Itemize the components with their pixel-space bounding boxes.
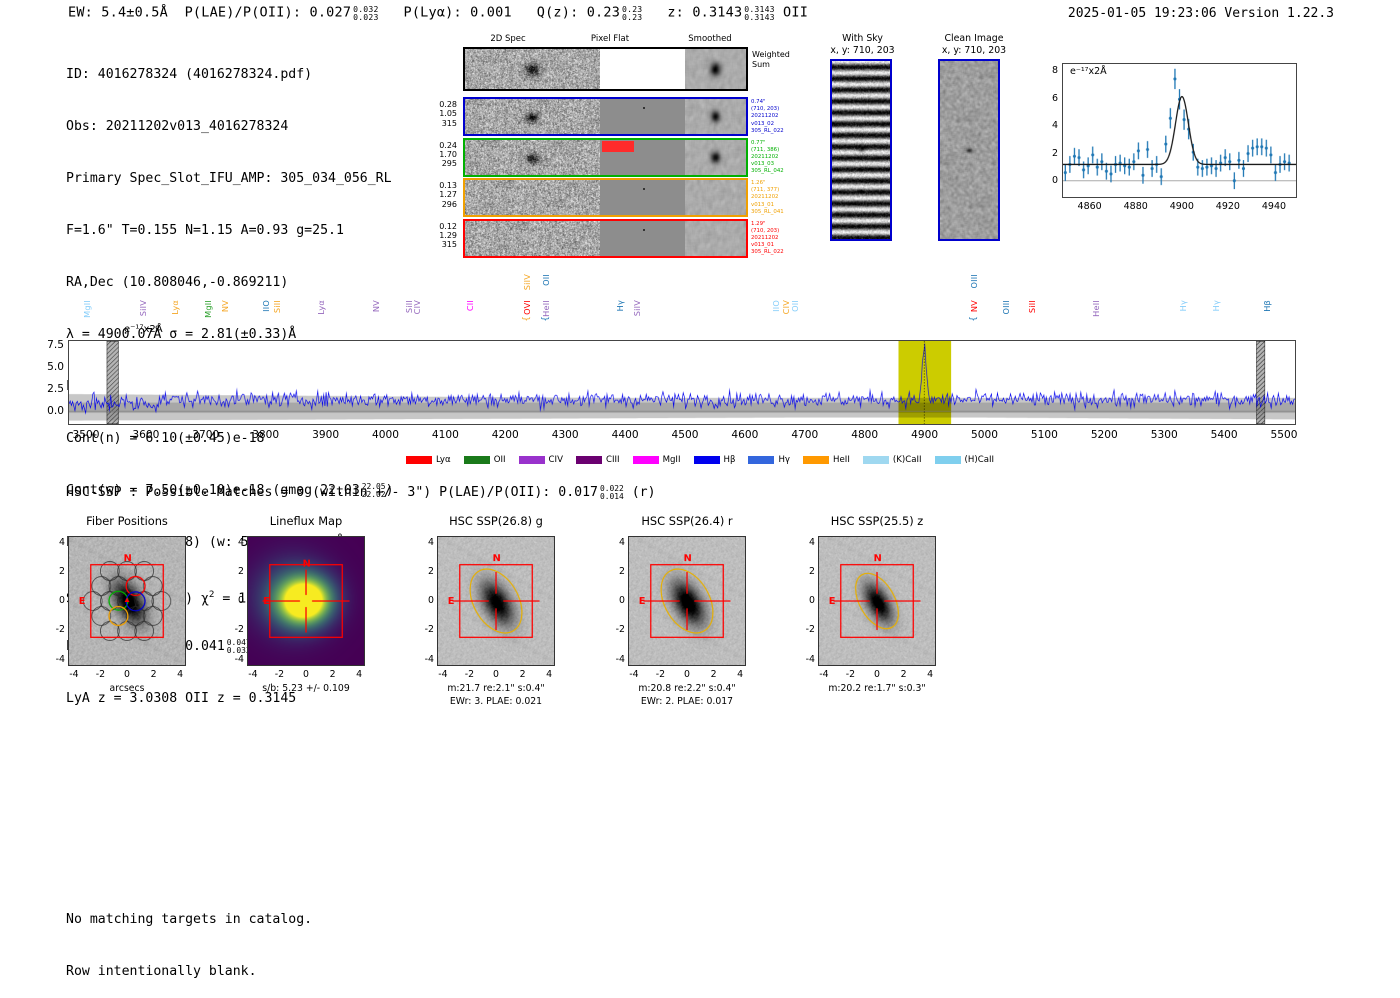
legend-item: (K)CaII bbox=[863, 455, 922, 465]
spectral-line-legend: LyαOIICIVCIIIMgIIHβHγHeII(K)CaII(H)CaII bbox=[0, 455, 1400, 465]
clean-image-title: Clean Image x, y: 710, 203 bbox=[925, 33, 1023, 56]
panel-hsc-ssp-g: HSC SSP(26.8) g-4-2024420-2-4m:21.7 re:2… bbox=[437, 536, 555, 726]
spectral-line-label: Hγ bbox=[1178, 300, 1188, 311]
fullspec-x-tick: 3900 bbox=[296, 429, 356, 441]
hsc-ssp-g-y-tick: -4 bbox=[419, 654, 434, 665]
exposure-row bbox=[463, 178, 748, 217]
lineflux-map-y-tick: -2 bbox=[229, 624, 244, 635]
full-spectrum-plot: MgII{SiIV{Lyα{MgII{NV{IIO{SiII{Lyα{NV{Si… bbox=[68, 340, 1296, 425]
hsc-ssp-g-y-tick: 2 bbox=[419, 566, 434, 577]
spectral-line-label: OIII bbox=[1001, 300, 1011, 315]
fullspec-x-tick: 4900 bbox=[895, 429, 955, 441]
header-qz-label: Q(z): bbox=[537, 4, 579, 20]
spectral-line-label: SiII bbox=[1027, 300, 1037, 313]
legend-item: CIV bbox=[519, 455, 563, 465]
spectral-line-label: CIV bbox=[412, 300, 422, 314]
header-plae-value: 0.027 bbox=[310, 4, 352, 20]
weighted-sum-label: Weighted Sum bbox=[752, 50, 790, 69]
fullspec-y-tick: 5.0 bbox=[34, 361, 64, 373]
exposure-row-stats: 0.12 1.29 315 bbox=[421, 222, 457, 250]
fullspec-x-tick: 5100 bbox=[1014, 429, 1074, 441]
fiber-positions-y-tick: -4 bbox=[50, 654, 65, 665]
legend-swatch bbox=[803, 456, 829, 464]
hsc-ssp-g-image[interactable] bbox=[437, 536, 555, 666]
header-z-lo: 0.3143 bbox=[744, 12, 774, 22]
legend-swatch bbox=[576, 456, 602, 464]
legend-item: HeII bbox=[803, 455, 850, 465]
legend-label: HeII bbox=[833, 455, 850, 465]
fullspec-y-tick: 7.5 bbox=[34, 339, 64, 351]
lineflux-map-x-tick: 0 bbox=[298, 669, 314, 680]
fullspec-x-tick: 4300 bbox=[535, 429, 595, 441]
hsc-ssp-r-x-tick: 4 bbox=[732, 669, 748, 680]
header-plya-value: 0.001 bbox=[470, 4, 512, 20]
header-plae-lo: 0.023 bbox=[353, 12, 378, 22]
hsc-ssp-g-x-tick: 0 bbox=[488, 669, 504, 680]
hsc-ssp-z-title: HSC SSP(25.5) z bbox=[800, 514, 954, 528]
flat-hot-pixel bbox=[643, 188, 645, 190]
linefit-x-tick: 4940 bbox=[1254, 201, 1294, 212]
fiber-positions-xlabel: arcsecs bbox=[54, 683, 200, 695]
lineflux-map-x-tick: -4 bbox=[245, 669, 261, 680]
fiber-positions-y-tick: -2 bbox=[50, 624, 65, 635]
fullspec-x-tick: 4100 bbox=[415, 429, 475, 441]
flat-hot-pixel bbox=[643, 107, 645, 109]
hsc-ssp-g-caption2: EWr: 3. PLAE: 0.021 bbox=[423, 696, 569, 708]
header-z-label: z: bbox=[667, 4, 684, 20]
lineflux-map-title: Lineflux Map bbox=[229, 514, 383, 528]
fullspec-x-tick: 3700 bbox=[176, 429, 236, 441]
exposure-row bbox=[463, 97, 748, 136]
linefit-x-tick: 4860 bbox=[1070, 201, 1110, 212]
hsc-ssp-g-x-tick: 2 bbox=[515, 669, 531, 680]
exposure-row-meta: 0.74" (710, 203) 20211202 v013_02 305_RL… bbox=[751, 99, 784, 135]
spectral-line-label: OII bbox=[790, 300, 800, 312]
fullspec-x-tick: 5000 bbox=[955, 429, 1015, 441]
spectral-line-label: NV bbox=[220, 300, 230, 312]
hsc-ssp-z-x-tick: -2 bbox=[842, 669, 858, 680]
legend-swatch bbox=[748, 456, 774, 464]
header-qz-value: 0.23 bbox=[587, 4, 620, 20]
panel-hsc-ssp-z: HSC SSP(25.5) z-4-2024420-2-4m:20.2 re:1… bbox=[818, 536, 936, 726]
linefit-y-tick: 2 bbox=[1040, 148, 1058, 159]
legend-label: Hγ bbox=[778, 455, 790, 465]
hsc-ssp-r-caption2: EWr: 2. PLAE: 0.017 bbox=[614, 696, 760, 708]
exposure-row-stats: 0.28 1.05 315 bbox=[421, 100, 457, 128]
spectral-line-label: CII bbox=[465, 300, 475, 311]
lineflux-map-x-tick: 2 bbox=[325, 669, 341, 680]
hsc-ssp-z-x-tick: 0 bbox=[869, 669, 885, 680]
spectral-line-label: Hγ bbox=[1211, 300, 1221, 311]
legend-swatch bbox=[406, 456, 432, 464]
hsc-ssp-z-x-tick: 2 bbox=[896, 669, 912, 680]
hsc-ssp-g-x-tick: 4 bbox=[541, 669, 557, 680]
spectral-line-brace: { bbox=[541, 316, 551, 322]
exposure-row-stats: 0.13 1.27 296 bbox=[421, 181, 457, 209]
spectral-line-brace: { bbox=[522, 316, 532, 322]
legend-item: OII bbox=[464, 455, 506, 465]
legend-label: OII bbox=[494, 455, 506, 465]
linefit-y-tick: 4 bbox=[1040, 120, 1058, 131]
fullspec-y-tick: 2.5 bbox=[34, 383, 64, 395]
legend-label: Hβ bbox=[724, 455, 736, 465]
spec2d-panel: 2D Spec Pixel Flat Smoothed Weighted Sum… bbox=[425, 34, 805, 250]
hsc-ssp-summary: HSC-SSP : Possible Matches = 0 (within +… bbox=[66, 484, 656, 500]
lineflux-map-y-tick: 4 bbox=[229, 537, 244, 548]
spectral-line-label: SiII bbox=[272, 300, 282, 313]
header-ew: EW: 5.4±0.5Å bbox=[68, 4, 168, 20]
legend-item: CIII bbox=[576, 455, 620, 465]
hsc-ssp-r-y-tick: -4 bbox=[610, 654, 625, 665]
fiber-positions-y-tick: 4 bbox=[50, 537, 65, 548]
hsc-ssp-r-caption: m:20.8 re:2.2" s:0.4" bbox=[614, 683, 760, 695]
legend-item: MgII bbox=[633, 455, 681, 465]
fullspec-x-tick: 4000 bbox=[355, 429, 415, 441]
lineflux-map-x-tick: -2 bbox=[271, 669, 287, 680]
legend-item: Lyα bbox=[406, 455, 451, 465]
sky-panels: With Sky x, y: 710, 203 Clean Image x, y… bbox=[815, 33, 1025, 253]
fullspec-x-tick: 5200 bbox=[1074, 429, 1134, 441]
param-id: ID: 4016278324 (4016278324.pdf) bbox=[66, 66, 394, 83]
param-radec: RA,Dec (10.808046,-0.869211) bbox=[66, 274, 394, 291]
param-seeing: F=1.6" T=0.155 N=1.15 A=0.93 g=25.1 bbox=[66, 222, 394, 239]
spectral-line-label: MgII bbox=[82, 300, 92, 318]
fullspec-x-tick: 4500 bbox=[655, 429, 715, 441]
hsc-ssp-z-x-tick: 4 bbox=[922, 669, 938, 680]
fullspec-x-tick: 4800 bbox=[835, 429, 895, 441]
hsc-ssp-z-y-tick: -2 bbox=[800, 624, 815, 635]
fullspec-x-tick: 3800 bbox=[236, 429, 296, 441]
legend-swatch bbox=[863, 456, 889, 464]
hsc-ssp-g-x-tick: -2 bbox=[461, 669, 477, 680]
col-header-pixelflat: Pixel Flat bbox=[565, 34, 655, 44]
hsc-ssp-g-caption: m:21.7 re:2.1" s:0.4" bbox=[423, 683, 569, 695]
flat-hot-pixel bbox=[643, 229, 645, 231]
legend-swatch bbox=[935, 456, 961, 464]
hsc-ssp-r-y-tick: -2 bbox=[610, 624, 625, 635]
panel-hsc-ssp-r: HSC SSP(26.4) r-4-2024420-2-4m:20.8 re:2… bbox=[628, 536, 746, 726]
fullspec-x-tick: 4700 bbox=[775, 429, 835, 441]
legend-item: Hγ bbox=[748, 455, 790, 465]
spectral-line-label: SiIV bbox=[632, 300, 642, 316]
fullspec-x-tick: 4600 bbox=[715, 429, 775, 441]
exposure-row bbox=[463, 138, 748, 177]
lineflux-map-y-tick: -4 bbox=[229, 654, 244, 665]
lineflux-map-x-tick: 4 bbox=[351, 669, 367, 680]
panel-fiber-positions: Fiber Positions-4-2024420-2-4arcsecs bbox=[68, 536, 186, 726]
emission-line-fit-plot: e⁻¹⁷x2Å 02468 48604880490049204940 bbox=[1040, 57, 1302, 232]
exposure-row-meta: 0.77" (711, 386) 20211202 v013_03 305_RL… bbox=[751, 140, 784, 176]
spectral-line-label: Hβ bbox=[1262, 300, 1272, 312]
fiber-positions-x-tick: -2 bbox=[92, 669, 108, 680]
linefit-x-tick: 4900 bbox=[1162, 201, 1202, 212]
exposure-row-meta: 1.29" (710, 203) 20211202 v013_01 305_RL… bbox=[751, 221, 784, 257]
hsc-ssp-z-y-tick: 2 bbox=[800, 566, 815, 577]
fullspec-x-tick: 4200 bbox=[475, 429, 535, 441]
linefit-y-tick: 0 bbox=[1040, 175, 1058, 186]
header-summary: EW: 5.4±0.5Å P(LAE)/P(OII): 0.0270.0320.… bbox=[68, 4, 808, 21]
timestamp-version: 2025-01-05 19:23:06 Version 1.22.3 bbox=[1068, 6, 1334, 21]
footer-note: No matching targets in catalog. Row inte… bbox=[66, 876, 312, 998]
fullspec-x-tick: 5400 bbox=[1194, 429, 1254, 441]
fiber-positions-title: Fiber Positions bbox=[50, 514, 204, 528]
col-header-smoothed: Smoothed bbox=[665, 34, 755, 44]
legend-swatch bbox=[464, 456, 490, 464]
hsc-ssp-r-image[interactable] bbox=[628, 536, 746, 666]
legend-item: (H)CaII bbox=[935, 455, 995, 465]
flat-defect-marker bbox=[602, 141, 634, 152]
spectral-line-label: NV bbox=[371, 300, 381, 312]
fullspec-x-tick: 5300 bbox=[1134, 429, 1194, 441]
spectral-line-label: OVI bbox=[522, 300, 532, 315]
panel-lineflux-map: Lineflux Map-4-2024420-2-4s/b: 5.23 +/- … bbox=[247, 536, 365, 726]
fiber-positions-y-tick: 2 bbox=[50, 566, 65, 577]
footer-line-1: No matching targets in catalog. bbox=[66, 911, 312, 928]
fullspec-x-tick: 3600 bbox=[116, 429, 176, 441]
hsc-ssp-z-y-tick: 4 bbox=[800, 537, 815, 548]
legend-label: (H)CaII bbox=[965, 455, 995, 465]
fullspec-x-tick: 3500 bbox=[56, 429, 116, 441]
fiber-positions-x-tick: 4 bbox=[172, 669, 188, 680]
spectral-line-label: NV bbox=[969, 300, 979, 312]
spectral-line-label: MgII bbox=[203, 300, 213, 318]
footer-line-2: Row intentionally blank. bbox=[66, 963, 312, 980]
exposure-row-meta: 1.26" (711, 377) 20211202 v013_01 305_RL… bbox=[751, 180, 784, 216]
hsc-ssp-r-x-tick: -4 bbox=[626, 669, 642, 680]
linefit-units: e⁻¹⁷x2Å bbox=[1070, 66, 1107, 77]
col-header-2dspec: 2D Spec bbox=[463, 34, 553, 44]
spectral-line-brace: { bbox=[969, 316, 979, 322]
exposure-row-stats: 0.24 1.70 295 bbox=[421, 141, 457, 169]
spectral-line-label: HeII bbox=[1091, 300, 1101, 317]
hsc-ssp-g-y-tick: 4 bbox=[419, 537, 434, 548]
spectral-line-label: Lyα bbox=[316, 300, 326, 315]
fullspec-units: e⁻¹⁷x2Å bbox=[124, 324, 163, 335]
header-z-value: 0.3143 bbox=[692, 4, 742, 20]
hsc-ssp-g-title: HSC SSP(26.8) g bbox=[419, 514, 573, 528]
hsc-ssp-g-y-tick: -2 bbox=[419, 624, 434, 635]
hsc-ssp-g-y-tick: 0 bbox=[419, 595, 434, 606]
spectral-line-label: SiIV bbox=[522, 274, 532, 290]
linefit-x-tick: 4920 bbox=[1208, 201, 1248, 212]
spectral-line-label: HeII bbox=[541, 300, 551, 317]
lineflux-map-y-tick: 2 bbox=[229, 566, 244, 577]
legend-item: Hβ bbox=[694, 455, 736, 465]
hsc-ssp-z-y-tick: -4 bbox=[800, 654, 815, 665]
legend-label: MgII bbox=[663, 455, 681, 465]
with-sky-cutout bbox=[830, 59, 892, 241]
header-z-type: OII bbox=[783, 4, 808, 20]
hsc-ssp-r-y-tick: 4 bbox=[610, 537, 625, 548]
spectral-line-label: Hγ bbox=[615, 300, 625, 311]
spectral-line-label: OII bbox=[541, 274, 551, 286]
legend-swatch bbox=[633, 456, 659, 464]
legend-label: CIV bbox=[549, 455, 563, 465]
fullspec-y-tick: 0.0 bbox=[34, 405, 64, 417]
header-plya-label: P(Lyα): bbox=[404, 4, 462, 20]
hsc-ssp-z-caption: m:20.2 re:1.7" s:0.3" bbox=[804, 683, 950, 695]
spectral-line-label: OIII bbox=[969, 274, 979, 289]
hsc-ssp-r-x-tick: -2 bbox=[652, 669, 668, 680]
hsc-ssp-r-x-tick: 2 bbox=[706, 669, 722, 680]
linefit-y-tick: 6 bbox=[1040, 93, 1058, 104]
legend-swatch bbox=[694, 456, 720, 464]
fullspec-x-tick: 4400 bbox=[595, 429, 655, 441]
hsc-ssp-z-x-tick: -4 bbox=[816, 669, 832, 680]
fiber-positions-y-tick: 0 bbox=[50, 595, 65, 606]
hsc-ssp-r-y-tick: 2 bbox=[610, 566, 625, 577]
spectral-line-label: IIO bbox=[261, 300, 271, 312]
param-primary-spec: Primary Spec_Slot_IFU_AMP: 305_034_056_R… bbox=[66, 170, 394, 187]
fiber-positions-image[interactable] bbox=[68, 536, 186, 666]
fullspec-x-tick: 5500 bbox=[1254, 429, 1314, 441]
spectral-line-label: SiIV bbox=[138, 300, 148, 316]
header-plae-label: P(LAE)/P(OII): bbox=[185, 4, 302, 20]
fiber-positions-x-tick: 2 bbox=[146, 669, 162, 680]
spectral-line-label: IIO bbox=[771, 300, 781, 312]
lineflux-map-caption: s/b: 5.23 +/- 0.109 bbox=[233, 683, 379, 695]
legend-swatch bbox=[519, 456, 545, 464]
hsc-ssp-z-image[interactable] bbox=[818, 536, 936, 666]
hsc-ssp-g-x-tick: -4 bbox=[435, 669, 451, 680]
legend-label: Lyα bbox=[436, 455, 451, 465]
lineflux-map-image[interactable] bbox=[247, 536, 365, 666]
weighted-sum-row bbox=[463, 47, 748, 91]
hsc-ssp-r-title: HSC SSP(26.4) r bbox=[610, 514, 764, 528]
hsc-ssp-r-y-tick: 0 bbox=[610, 595, 625, 606]
header-qz-lo: 0.23 bbox=[622, 12, 642, 22]
fiber-positions-x-tick: 0 bbox=[119, 669, 135, 680]
spectral-line-label: Lyα bbox=[170, 300, 180, 315]
clean-image-cutout bbox=[938, 59, 1000, 241]
legend-label: (K)CaII bbox=[893, 455, 922, 465]
hsc-ssp-r-x-tick: 0 bbox=[679, 669, 695, 680]
exposure-row bbox=[463, 219, 748, 258]
param-obs: Obs: 20211202v013_4016278324 bbox=[66, 118, 394, 135]
with-sky-title: With Sky x, y: 710, 203 bbox=[815, 33, 910, 56]
linefit-y-tick: 8 bbox=[1040, 65, 1058, 76]
hsc-ssp-z-y-tick: 0 bbox=[800, 595, 815, 606]
legend-label: CIII bbox=[606, 455, 620, 465]
linefit-x-tick: 4880 bbox=[1116, 201, 1156, 212]
lineflux-map-y-tick: 0 bbox=[229, 595, 244, 606]
fiber-positions-x-tick: -4 bbox=[66, 669, 82, 680]
